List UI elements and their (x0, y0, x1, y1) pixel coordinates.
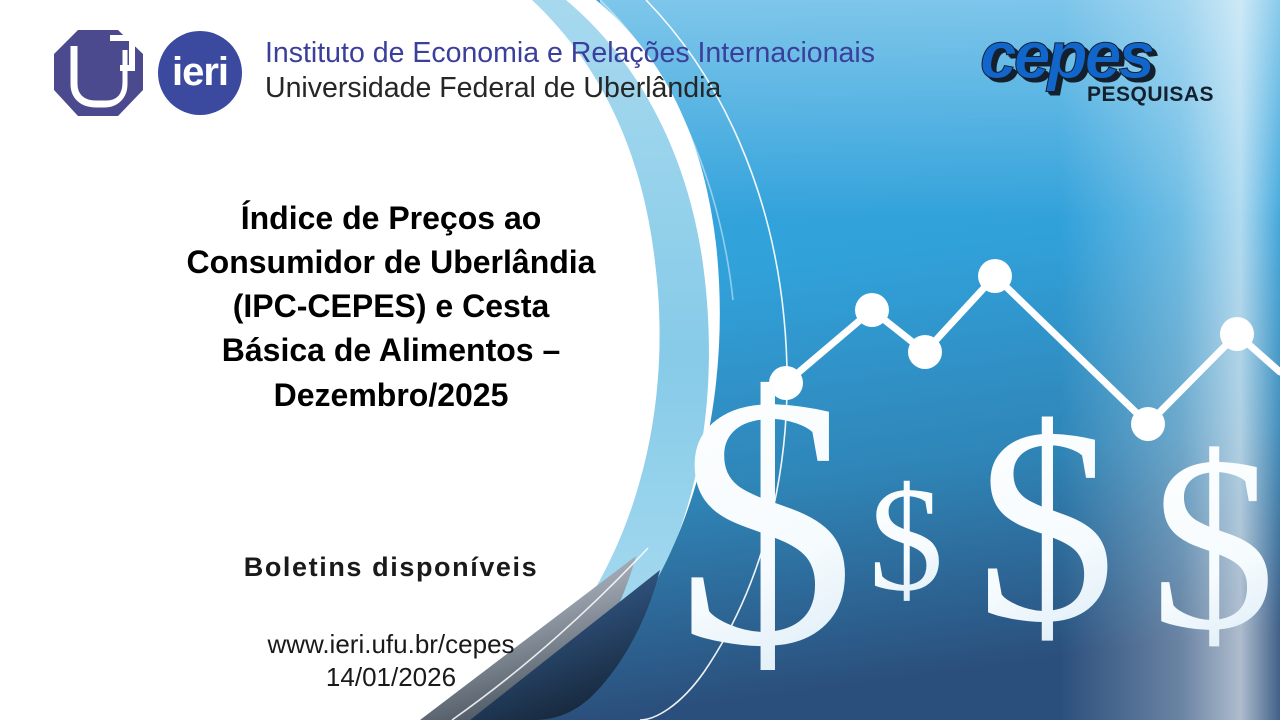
cepes-logo-subtitle: PESQUISAS (1087, 84, 1214, 105)
dollar-large-right: $ (1151, 405, 1276, 682)
ufu-logo-icon (48, 28, 148, 120)
chart-node-3 (908, 335, 942, 369)
ieri-logo-text: ieri (172, 52, 228, 92)
page-title-line-4: Básica de Alimentos – (96, 328, 686, 372)
ieri-logo-badge: ieri (158, 31, 242, 115)
institute-line-2: Universidade Federal de Uberlândia (265, 71, 965, 106)
website-link[interactable]: www.ieri.ufu.br/cepes (96, 628, 686, 661)
chart-node-4 (978, 259, 1012, 293)
availability-label: Boletins disponíveis (96, 552, 686, 583)
cepes-logo: cepes PESQUISAS (980, 22, 1232, 114)
chart-node-6 (1220, 317, 1254, 351)
page-title-line-5: Dezembro/2025 (96, 373, 686, 417)
institute-line-1: Instituto de Economia e Relações Interna… (265, 36, 965, 71)
page-title-line-3: (IPC-CEPES) e Cesta (96, 284, 686, 328)
dollar-large-center: $ (976, 369, 1116, 680)
dollar-small-center: $ (869, 456, 944, 622)
institute-name-block: Instituto de Economia e Relações Interna… (265, 36, 965, 106)
page-title-line-1: Índice de Preços ao (96, 196, 686, 240)
dollar-large-left: $ (676, 322, 856, 720)
page-title-line-2: Consumidor de Uberlândia (96, 240, 686, 284)
slide-header: ieri Instituto de Economia e Relações In… (0, 0, 1280, 130)
slide-canvas: $$$$ ieri Instituto de Economia e Relaçõ… (0, 0, 1280, 720)
publication-date: 14/01/2026 (96, 661, 686, 694)
footer-info: www.ieri.ufu.br/cepes 14/01/2026 (96, 628, 686, 695)
page-title: Índice de Preços aoConsumidor de Uberlân… (96, 196, 686, 417)
chart-node-2 (855, 293, 889, 327)
cepes-logo-word: cepes (980, 22, 1152, 88)
